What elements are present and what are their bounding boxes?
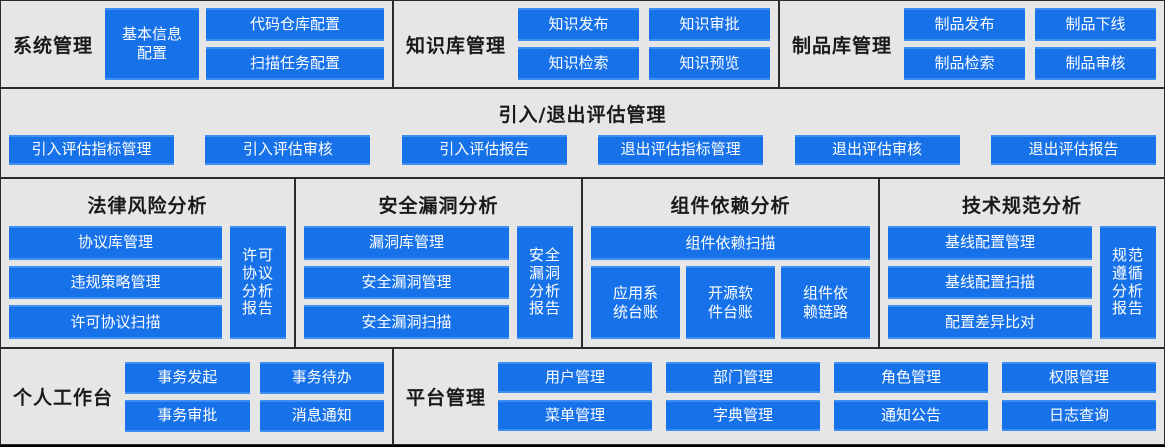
report-line-4: 报告 bbox=[242, 300, 274, 318]
panel-security-vulnerability-analysis: 安全漏洞分析 漏洞库管理 安全漏洞管理 安全漏洞扫描 安全 漏洞 分析 报告 bbox=[295, 178, 582, 348]
button-scan-task-config[interactable]: 扫描任务配置 bbox=[206, 47, 384, 80]
button-artifact-audit[interactable]: 制品审核 bbox=[1035, 47, 1156, 80]
report-line-2: 协议 bbox=[242, 265, 274, 283]
button-intro-eval-report[interactable]: 引入评估报告 bbox=[402, 135, 567, 165]
button-artifact-search[interactable]: 制品检索 bbox=[904, 47, 1025, 80]
ledger-line-1: 开源软 bbox=[708, 284, 753, 303]
panel-platform-management: 平台管理 用户管理 部门管理 角色管理 权限管理 菜单管理 字典管理 通知公告 … bbox=[393, 348, 1165, 445]
button-intro-eval-review[interactable]: 引入评估审核 bbox=[205, 135, 370, 165]
panel-component-dependency-analysis: 组件依赖分析 组件依赖扫描 应用系 统台账 开源软 件台账 组件依 bbox=[582, 178, 879, 348]
intro-exit-evaluation-buttons: 引入评估指标管理 引入评估审核 引入评估报告 退出评估指标管理 退出评估审核 退… bbox=[1, 135, 1164, 171]
button-baseline-config-management[interactable]: 基线配置管理 bbox=[888, 226, 1092, 260]
row-analysis-modules: 法律风险分析 协议库管理 违规策略管理 许可协议扫描 许可 协议 分析 报告 bbox=[0, 178, 1165, 348]
artifact-repository-grid: 制品发布 制品下线 制品检索 制品审核 bbox=[904, 8, 1156, 80]
button-baseline-config-scan[interactable]: 基线配置扫描 bbox=[888, 266, 1092, 300]
panel-title-personal-workbench: 个人工作台 bbox=[1, 383, 125, 410]
button-message-notification[interactable]: 消息通知 bbox=[260, 400, 385, 432]
panel-title-platform-management: 平台管理 bbox=[394, 383, 498, 410]
security-vulnerability-report-wrapper: 安全 漏洞 分析 报告 bbox=[517, 226, 573, 339]
panel-title-legal-risk-analysis: 法律风险分析 bbox=[9, 191, 286, 218]
panel-title-artifact-repository-management: 制品库管理 bbox=[780, 31, 904, 58]
technical-specification-buttons: 基线配置管理 基线配置扫描 配置差异比对 bbox=[888, 226, 1092, 339]
row-intro-exit-evaluation: 引入/退出评估管理 引入评估指标管理 引入评估审核 引入评估报告 退出评估指标管… bbox=[0, 88, 1165, 178]
technical-specification-report-wrapper: 规范 遵循 分析 报告 bbox=[1100, 226, 1156, 339]
button-license-agreement-analysis-report[interactable]: 许可 协议 分析 报告 bbox=[230, 226, 286, 339]
button-specification-compliance-analysis-report[interactable]: 规范 遵循 分析 报告 bbox=[1100, 226, 1156, 339]
button-knowledge-publish[interactable]: 知识发布 bbox=[518, 8, 639, 41]
button-vulnerability-library-management[interactable]: 漏洞库管理 bbox=[304, 226, 509, 260]
report-line-1: 安全 bbox=[529, 247, 561, 265]
button-knowledge-approve[interactable]: 知识审批 bbox=[649, 8, 770, 41]
legal-risk-report-wrapper: 许可 协议 分析 报告 bbox=[230, 226, 286, 339]
system-management-buttons: 基本信息 配置 代码仓库配置 扫描任务配置 bbox=[105, 8, 392, 80]
button-permission-management[interactable]: 权限管理 bbox=[1002, 362, 1156, 393]
platform-management-buttons: 用户管理 部门管理 角色管理 权限管理 菜单管理 字典管理 通知公告 日志查询 bbox=[498, 362, 1164, 431]
ledger-line-1: 应用系 bbox=[613, 284, 658, 303]
button-user-management[interactable]: 用户管理 bbox=[498, 362, 652, 393]
report-line-2: 漏洞 bbox=[529, 265, 561, 283]
panel-title-system-management: 系统管理 bbox=[1, 31, 105, 58]
button-artifact-publish[interactable]: 制品发布 bbox=[904, 8, 1025, 41]
button-code-repo-config[interactable]: 代码仓库配置 bbox=[206, 8, 384, 41]
ledger-line-2: 统台账 bbox=[613, 303, 658, 322]
button-task-initiate[interactable]: 事务发起 bbox=[125, 362, 249, 394]
button-task-approval[interactable]: 事务审批 bbox=[125, 400, 249, 432]
button-application-system-ledger[interactable]: 应用系 统台账 bbox=[591, 266, 680, 339]
button-menu-management[interactable]: 菜单管理 bbox=[498, 400, 652, 431]
button-component-dependency-scan[interactable]: 组件依赖扫描 bbox=[591, 226, 870, 260]
button-security-vulnerability-management[interactable]: 安全漏洞管理 bbox=[304, 266, 509, 300]
knowledge-base-grid: 知识发布 知识审批 知识检索 知识预览 bbox=[518, 8, 770, 80]
button-exit-eval-report[interactable]: 退出评估报告 bbox=[991, 135, 1156, 165]
platform-management-grid: 用户管理 部门管理 角色管理 权限管理 菜单管理 字典管理 通知公告 日志查询 bbox=[498, 362, 1156, 431]
panel-intro-exit-evaluation-management: 引入/退出评估管理 引入评估指标管理 引入评估审核 引入评估报告 退出评估指标管… bbox=[0, 88, 1165, 178]
system-management-stack: 代码仓库配置 扫描任务配置 bbox=[206, 8, 384, 80]
row-top-modules: 系统管理 基本信息 配置 代码仓库配置 扫描任务配置 知识库管理 知识发布 知识… bbox=[0, 0, 1165, 88]
ledger-line-1: 组件依 bbox=[803, 284, 848, 303]
button-knowledge-preview[interactable]: 知识预览 bbox=[649, 47, 770, 80]
report-line-2: 遵循 bbox=[1112, 265, 1144, 283]
ledger-line-2: 赖链路 bbox=[803, 303, 848, 322]
security-vulnerability-analysis-body: 漏洞库管理 安全漏洞管理 安全漏洞扫描 安全 漏洞 分析 报告 bbox=[304, 226, 573, 339]
artifact-repository-buttons: 制品发布 制品下线 制品检索 制品审核 bbox=[904, 8, 1164, 80]
panel-system-management: 系统管理 基本信息 配置 代码仓库配置 扫描任务配置 bbox=[0, 0, 393, 88]
personal-workbench-buttons: 事务发起 事务待办 事务审批 消息通知 bbox=[125, 362, 392, 432]
button-exit-eval-review[interactable]: 退出评估审核 bbox=[795, 135, 960, 165]
component-dependency-ledger-row: 应用系 统台账 开源软 件台账 组件依 赖链路 bbox=[591, 266, 870, 339]
report-line-4: 报告 bbox=[1112, 300, 1144, 318]
panel-personal-workbench: 个人工作台 事务发起 事务待办 事务审批 消息通知 bbox=[0, 348, 393, 445]
panel-title-knowledge-base-management: 知识库管理 bbox=[394, 31, 518, 58]
button-knowledge-search[interactable]: 知识检索 bbox=[518, 47, 639, 80]
button-role-management[interactable]: 角色管理 bbox=[834, 362, 988, 393]
legal-risk-analysis-buttons: 协议库管理 违规策略管理 许可协议扫描 bbox=[9, 226, 222, 339]
panel-technical-specification-analysis: 技术规范分析 基线配置管理 基线配置扫描 配置差异比对 规范 遵循 分析 报告 bbox=[879, 178, 1165, 348]
panel-title-technical-specification-analysis: 技术规范分析 bbox=[888, 191, 1156, 218]
row-workbench-platform: 个人工作台 事务发起 事务待办 事务审批 消息通知 平台管理 用户管理 部门管理… bbox=[0, 348, 1165, 445]
report-line-1: 规范 bbox=[1112, 247, 1144, 265]
button-basic-info-config[interactable]: 基本信息 配置 bbox=[105, 8, 199, 80]
button-agreement-library-management[interactable]: 协议库管理 bbox=[9, 226, 222, 260]
personal-workbench-grid: 事务发起 事务待办 事务审批 消息通知 bbox=[125, 362, 384, 432]
button-config-difference-comparison[interactable]: 配置差异比对 bbox=[888, 305, 1092, 339]
button-security-vulnerability-analysis-report[interactable]: 安全 漏洞 分析 报告 bbox=[517, 226, 573, 339]
button-basic-info-config-line1: 基本信息 bbox=[122, 25, 182, 44]
button-task-todo[interactable]: 事务待办 bbox=[260, 362, 385, 394]
ledger-line-2: 件台账 bbox=[708, 303, 753, 322]
component-dependency-body: 组件依赖扫描 应用系 统台账 开源软 件台账 组件依 赖链路 bbox=[591, 226, 870, 339]
panel-knowledge-base-management: 知识库管理 知识发布 知识审批 知识检索 知识预览 bbox=[393, 0, 779, 88]
button-department-management[interactable]: 部门管理 bbox=[666, 362, 820, 393]
button-log-query[interactable]: 日志查询 bbox=[1002, 400, 1156, 431]
button-open-source-software-ledger[interactable]: 开源软 件台账 bbox=[686, 266, 775, 339]
button-violation-policy-management[interactable]: 违规策略管理 bbox=[9, 266, 222, 300]
button-basic-info-config-line2: 配置 bbox=[137, 44, 167, 63]
report-line-3: 分析 bbox=[529, 283, 561, 301]
button-artifact-offline[interactable]: 制品下线 bbox=[1035, 8, 1156, 41]
technical-specification-body: 基线配置管理 基线配置扫描 配置差异比对 规范 遵循 分析 报告 bbox=[888, 226, 1156, 339]
module-map-diagram: 系统管理 基本信息 配置 代码仓库配置 扫描任务配置 知识库管理 知识发布 知识… bbox=[0, 0, 1165, 447]
button-notice-announcement[interactable]: 通知公告 bbox=[834, 400, 988, 431]
panel-title-component-dependency-analysis: 组件依赖分析 bbox=[591, 191, 870, 218]
security-vulnerability-buttons: 漏洞库管理 安全漏洞管理 安全漏洞扫描 bbox=[304, 226, 509, 339]
button-dictionary-management[interactable]: 字典管理 bbox=[666, 400, 820, 431]
panel-title-intro-exit-evaluation: 引入/退出评估管理 bbox=[1, 100, 1164, 127]
report-line-3: 分析 bbox=[1112, 283, 1144, 301]
panel-artifact-repository-management: 制品库管理 制品发布 制品下线 制品检索 制品审核 bbox=[779, 0, 1165, 88]
button-intro-eval-indicator-management[interactable]: 引入评估指标管理 bbox=[9, 135, 174, 165]
report-line-4: 报告 bbox=[529, 300, 561, 318]
component-dependency-scan-row: 组件依赖扫描 bbox=[591, 226, 870, 260]
button-exit-eval-indicator-management[interactable]: 退出评估指标管理 bbox=[598, 135, 763, 165]
button-security-vulnerability-scan[interactable]: 安全漏洞扫描 bbox=[304, 305, 509, 339]
button-license-agreement-scan[interactable]: 许可协议扫描 bbox=[9, 305, 222, 339]
panel-title-security-vulnerability-analysis: 安全漏洞分析 bbox=[304, 191, 573, 218]
button-component-dependency-chain[interactable]: 组件依 赖链路 bbox=[781, 266, 870, 339]
report-line-1: 许可 bbox=[242, 247, 274, 265]
report-line-3: 分析 bbox=[242, 283, 274, 301]
panel-legal-risk-analysis: 法律风险分析 协议库管理 违规策略管理 许可协议扫描 许可 协议 分析 报告 bbox=[0, 178, 295, 348]
legal-risk-analysis-body: 协议库管理 违规策略管理 许可协议扫描 许可 协议 分析 报告 bbox=[9, 226, 286, 339]
knowledge-base-buttons: 知识发布 知识审批 知识检索 知识预览 bbox=[518, 8, 778, 80]
